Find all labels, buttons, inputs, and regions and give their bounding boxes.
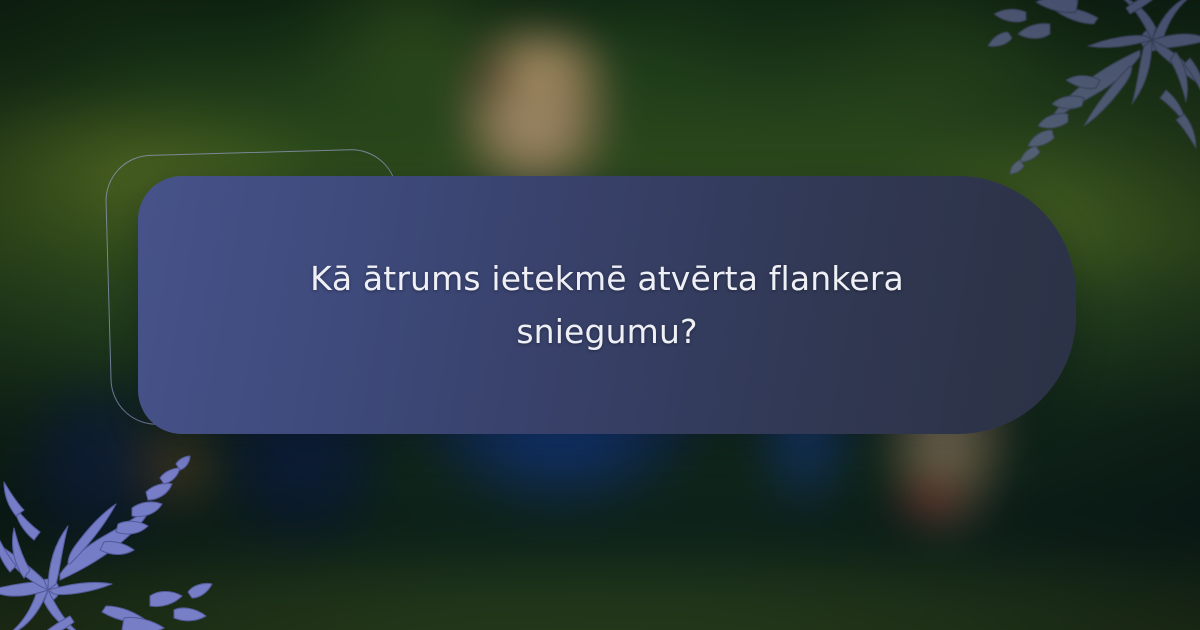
question-text: Kā ātrums ietekmē atvērta flankera snieg… [287,252,927,359]
question-card: Kā ātrums ietekmē atvērta flankera snieg… [138,176,1076,434]
question-card-inner: Kā ātrums ietekmē atvērta flankera snieg… [138,252,1076,359]
social-quote-card-image: Kā ātrums ietekmē atvērta flankera snieg… [0,0,1200,630]
